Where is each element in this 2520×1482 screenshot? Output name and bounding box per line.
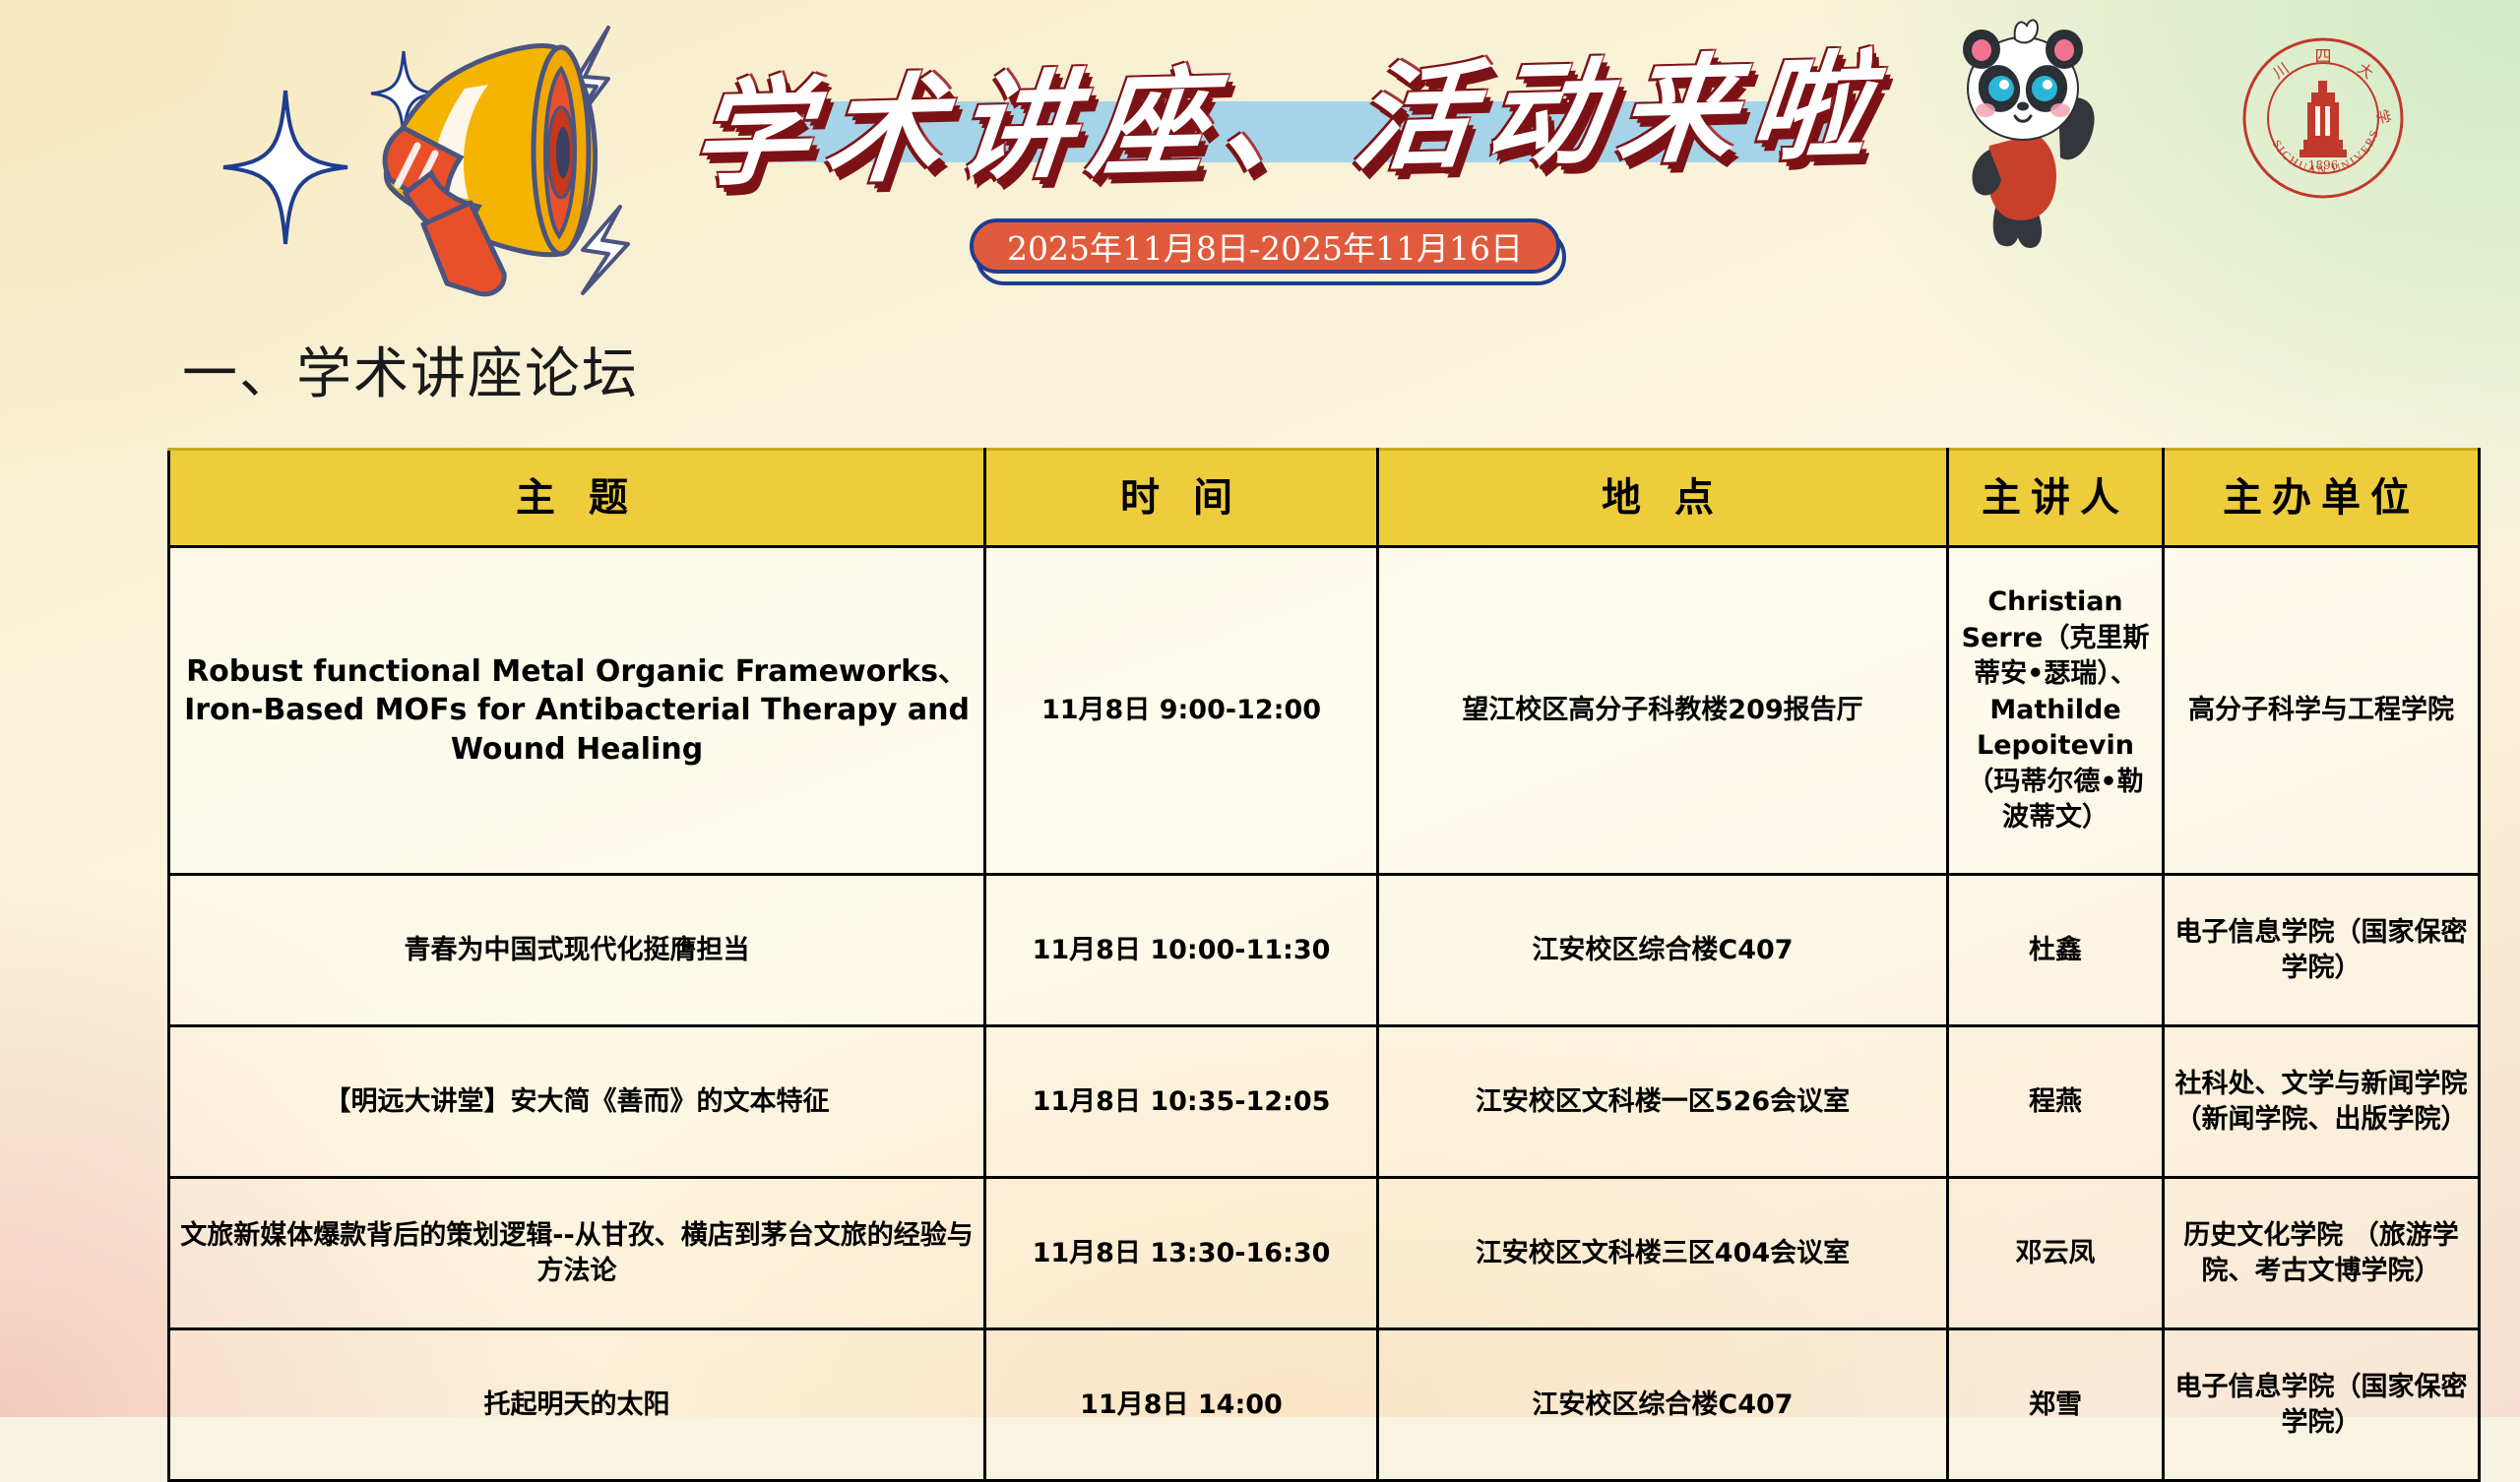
column-header-time: 时 间 xyxy=(985,450,1378,547)
cell-time: 11月8日 14:00 xyxy=(985,1329,1378,1481)
table-row: 青春为中国式现代化挺膺担当 11月8日 10:00-11:30 江安校区综合楼C… xyxy=(169,875,2480,1026)
cell-time: 11月8日 13:30-16:30 xyxy=(985,1178,1378,1329)
cell-organizer: 高分子科学与工程学院 xyxy=(2164,547,2480,875)
table-row: 托起明天的太阳 11月8日 14:00 江安校区综合楼C407 郑雪 电子信息学… xyxy=(169,1329,2480,1481)
sichuan-university-seal-icon: 四 川 大 学 1896 SICHUAN UNIVERSITY xyxy=(2235,30,2412,207)
cell-speaker: 杜鑫 xyxy=(1948,875,2164,1026)
table-row: 【明远大讲堂】安大简《善而》的文本特征 11月8日 10:35-12:05 江安… xyxy=(169,1026,2480,1178)
table-header-row: 主 题 时 间 地 点 主讲人 主办单位 xyxy=(169,450,2480,547)
cell-organizer: 电子信息学院（国家保密学院） xyxy=(2164,875,2480,1026)
cell-topic: 【明远大讲堂】安大简《善而》的文本特征 xyxy=(169,1026,985,1178)
cell-time: 11月8日 9:00-12:00 xyxy=(985,547,1378,875)
cell-topic: 文旅新媒体爆款背后的策划逻辑--从甘孜、横店到茅台文旅的经验与方法论 xyxy=(169,1178,985,1329)
date-range-text: 2025年11月8日-2025年11月16日 xyxy=(970,218,1560,274)
column-header-speaker: 主讲人 xyxy=(1948,450,2164,547)
cell-organizer: 社科处、文学与新闻学院（新闻学院、出版学院） xyxy=(2164,1026,2480,1178)
megaphone-icon xyxy=(295,10,709,305)
page-title: 学术讲座、活动来啦 xyxy=(679,9,1901,211)
cell-speaker: 郑雪 xyxy=(1948,1329,2164,1481)
cell-place: 江安校区文科楼一区526会议室 xyxy=(1378,1026,1948,1178)
svg-text:川: 川 xyxy=(2270,59,2293,82)
svg-text:大: 大 xyxy=(2355,59,2377,82)
cell-place: 望江校区高分子科教楼209报告厅 xyxy=(1378,547,1948,875)
cell-topic: Robust functional Metal Organic Framewor… xyxy=(169,547,985,875)
header-banner: 学术讲座、活动来啦 2025年11月8日-2025年11月16日 xyxy=(0,0,2520,325)
table-row: Robust functional Metal Organic Framewor… xyxy=(169,547,2480,875)
cell-place: 江安校区综合楼C407 xyxy=(1378,1329,1948,1481)
column-header-organizer: 主办单位 xyxy=(2164,450,2480,547)
cell-topic: 托起明天的太阳 xyxy=(169,1329,985,1481)
cell-organizer: 电子信息学院（国家保密学院） xyxy=(2164,1329,2480,1481)
column-header-place: 地 点 xyxy=(1378,450,1948,547)
schedule-table-wrapper: 主 题 时 间 地 点 主讲人 主办单位 Robust functional M… xyxy=(167,448,2384,1482)
section-heading: 一、学术讲座论坛 xyxy=(182,330,639,409)
cell-speaker: 程燕 xyxy=(1948,1026,2164,1178)
schedule-table: 主 题 时 间 地 点 主讲人 主办单位 Robust functional M… xyxy=(167,448,2481,1482)
svg-text:四: 四 xyxy=(2315,47,2332,67)
cell-organizer: 历史文化学院 （旅游学院、考古文博学院） xyxy=(2164,1178,2480,1329)
panda-mascot-icon xyxy=(1924,8,2121,254)
cell-place: 江安校区综合楼C407 xyxy=(1378,875,1948,1026)
column-header-topic: 主 题 xyxy=(169,450,985,547)
cell-speaker: 邓云凤 xyxy=(1948,1178,2164,1329)
cell-topic: 青春为中国式现代化挺膺担当 xyxy=(169,875,985,1026)
cell-time: 11月8日 10:35-12:05 xyxy=(985,1026,1378,1178)
cell-time: 11月8日 10:00-11:30 xyxy=(985,875,1378,1026)
cell-speaker: Christian Serre（克里斯蒂安•瑟瑞）、Mathilde Lepoi… xyxy=(1948,547,2164,875)
svg-text:学: 学 xyxy=(2372,107,2393,126)
table-row: 文旅新媒体爆款背后的策划逻辑--从甘孜、横店到茅台文旅的经验与方法论 11月8日… xyxy=(169,1178,2480,1329)
cell-place: 江安校区文科楼三区404会议室 xyxy=(1378,1178,1948,1329)
date-range-badge: 2025年11月8日-2025年11月16日 xyxy=(970,218,1560,278)
